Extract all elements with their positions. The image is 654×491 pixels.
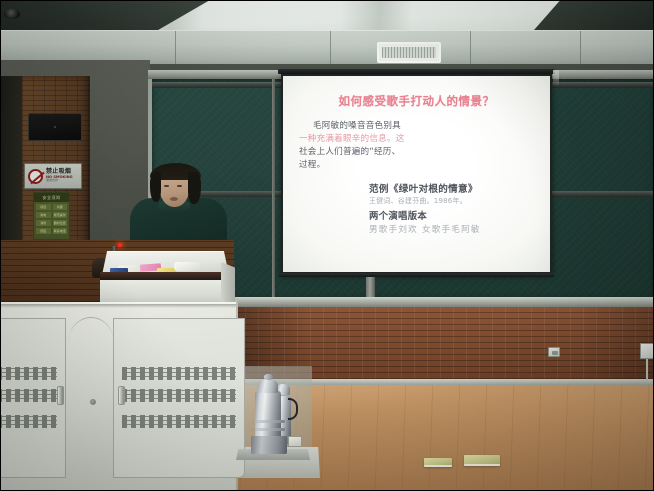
thermos-cap-primary: [258, 379, 278, 393]
cabinet-vent: [0, 415, 57, 428]
cabinet-vent: [122, 415, 236, 428]
thermos-base: [251, 436, 287, 454]
cabinet-center-arc: [68, 317, 114, 343]
slide-content: 如何感受歌手打动人的情景？ 毛阿敏的嗓音音色别具 一种充满着眼辛的信息。这 社会…: [283, 76, 550, 272]
notice-cell: 联系电话: [53, 228, 68, 234]
ac-vent-icon: [377, 42, 441, 63]
lectern-white-item: [174, 262, 200, 271]
wainscot-rail: [232, 297, 654, 307]
power-led-indicator: [118, 243, 122, 247]
thermos-ring: [252, 420, 285, 423]
projection-screen: 如何感受歌手打动人的情景？ 毛阿敏的嗓音音色别具 一种充满着眼辛的信息。这 社会…: [281, 74, 552, 274]
thermos-ring: [252, 428, 285, 431]
slide-example-subtitle: 两个演唱版本: [369, 208, 536, 222]
no-smoking-sublabel: 谢谢合作: [46, 179, 78, 182]
notice-board-grid: 项目 内容 用电 规范操作 消防 器材位置 值班 联系电话: [34, 202, 69, 236]
no-smoking-icon: [28, 169, 43, 184]
slide-title: 如何感受歌手打动人的情景？: [297, 93, 536, 109]
cabinet-top-shadow: [0, 304, 236, 308]
cabinet-handle-left[interactable]: [57, 386, 64, 405]
projection-screen-bottom-bar: [279, 273, 554, 277]
eye-left: [164, 185, 169, 187]
slide-body-line: 一种充满着眼辛的信息。这: [299, 133, 536, 146]
ac-vent-grill: [382, 47, 436, 58]
notice-cell: 规范操作: [53, 212, 68, 218]
notice-board: 安全须知 项目 内容 用电 规范操作 消防 器材位置 值班 联系电话: [33, 192, 70, 240]
classroom-photo: 禁止吸烟 NO SMOKING 谢谢合作 安全须知 项目 内容 用电 规范操作 …: [0, 0, 654, 491]
lecturer-hair-side-left: [150, 172, 161, 202]
slide-example-title: 范例《绿叶对根的情意》: [369, 181, 536, 195]
slide-body-line: 毛阿敏的嗓音音色别具: [299, 120, 536, 133]
cabinet-vent: [0, 367, 57, 380]
slide-example-block: 范例《绿叶对根的情意》 王健词、谷建芬曲。1986年。 两个演唱版本 男歌手刘欢…: [297, 181, 536, 235]
notice-cell: 用电: [36, 212, 51, 218]
floor-book: [464, 455, 500, 466]
thermos-knob: [264, 374, 273, 380]
slide-example-credit: 王健词、谷建芬曲。1986年。: [369, 196, 536, 206]
lecturer-hair-side-right: [188, 172, 201, 204]
wall-socket[interactable]: [548, 347, 560, 357]
slide-body-line: 社会上人们普遍的“经历、: [299, 146, 536, 159]
notice-cell: 项目: [36, 204, 51, 210]
slide-body: 毛阿敏的嗓音音色别具 一种充满着眼辛的信息。这 社会上人们普遍的“经历、 过程。: [297, 120, 536, 172]
storage-cabinet[interactable]: [0, 302, 236, 491]
notice-cell: 消防: [36, 220, 51, 226]
wall-monitor: [28, 113, 82, 141]
cabinet-lock-icon[interactable]: [90, 399, 96, 405]
security-camera-icon: [4, 9, 20, 19]
slide-body-line: 过程。: [299, 159, 536, 172]
cabinet-vent: [122, 367, 236, 380]
notice-board-header: 安全须知: [34, 193, 69, 202]
cabinet-handle-right[interactable]: [118, 386, 125, 405]
no-smoking-sign: 禁止吸烟 NO SMOKING 谢谢合作: [24, 163, 82, 189]
notice-cell: 值班: [36, 228, 51, 234]
floor-book: [424, 458, 452, 467]
eye-right: [177, 185, 182, 187]
chalkboard-divider: [272, 79, 275, 297]
thermos-label-plate: [288, 436, 302, 447]
notice-cell: 器材位置: [53, 220, 68, 226]
mouth: [170, 197, 178, 201]
wall-junction-box: [640, 343, 654, 359]
wall-conduit: [646, 359, 648, 381]
cabinet-door-right[interactable]: [113, 318, 245, 478]
notice-cell: 内容: [53, 204, 68, 210]
lectern-edge: [100, 272, 231, 280]
cabinet-vent: [0, 389, 57, 402]
cabinet-vent: [122, 389, 236, 402]
slide-example-singers: 男歌手刘欢 女歌手毛阿敏: [369, 223, 536, 235]
